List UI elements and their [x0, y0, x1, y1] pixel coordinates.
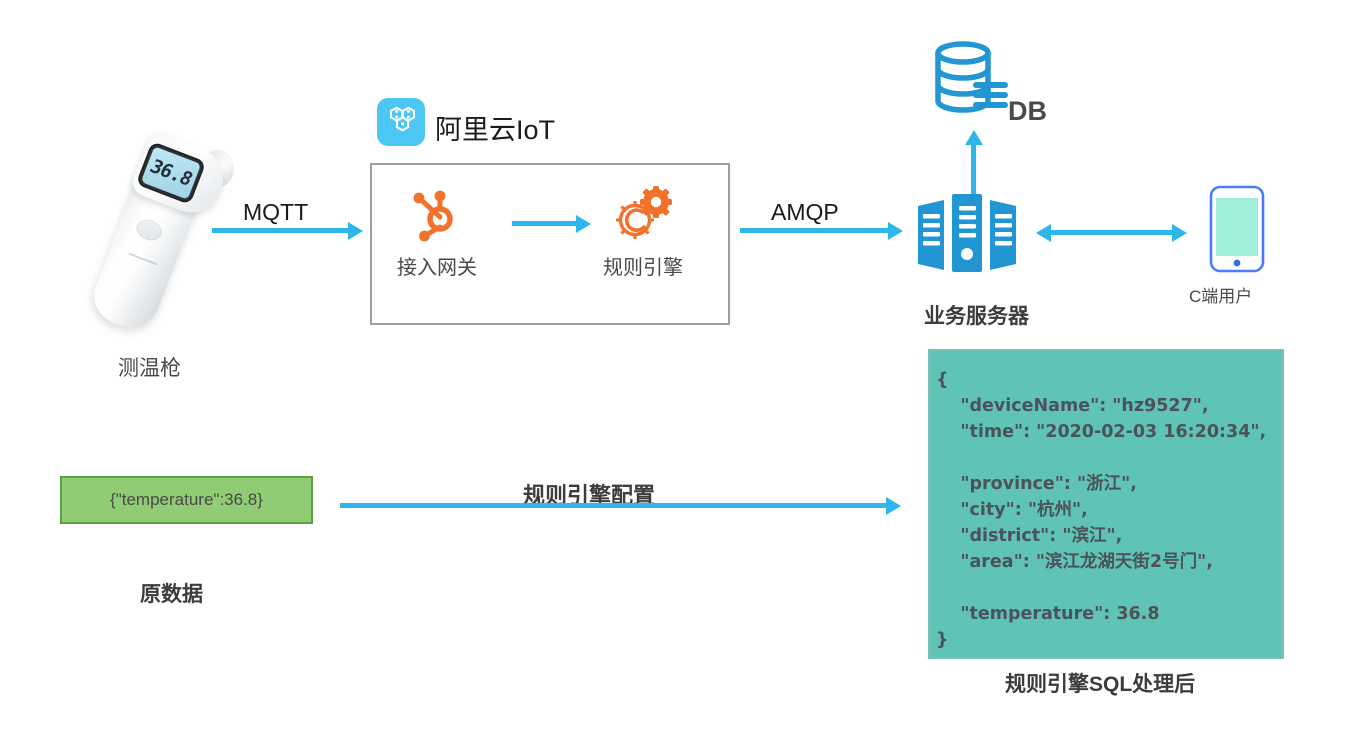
server-rack-icon [916, 192, 1028, 279]
device-caption: 测温枪 [118, 352, 181, 382]
aliyun-iot-platform-box: 接入网关 [370, 163, 730, 325]
database-cylinder-icon [930, 38, 1014, 127]
server-client-arrow-head-left [1036, 224, 1051, 242]
rules-engine-label: 规则引擎 [578, 251, 708, 280]
raw-data-caption: 原数据 [140, 578, 203, 608]
amqp-arrow-head [888, 222, 903, 240]
rules-engine-gears-icon [608, 183, 678, 254]
server-client-arrow-line [1050, 230, 1173, 235]
database-label: DB [1008, 96, 1047, 127]
amqp-arrow-label: AMQP [771, 199, 839, 226]
business-server-caption: 业务服务器 [924, 300, 1029, 330]
client-caption: C端用户 [1189, 282, 1252, 307]
internal-arrow-line [512, 221, 578, 226]
raw-data-box: {"temperature":36.8} [60, 476, 313, 524]
aliyun-iot-hexagon-icon [377, 98, 425, 146]
rule-config-arrow-head [886, 497, 901, 515]
server-client-arrow-head-right [1172, 224, 1187, 242]
mqtt-arrow-head [348, 222, 363, 240]
raw-data-payload: {"temperature":36.8} [110, 490, 263, 510]
processed-json-text: { "deviceName": "hz9527", "time": "2020-… [936, 367, 1282, 653]
access-gateway-icon [406, 187, 468, 254]
amqp-arrow-line [740, 228, 890, 233]
access-gateway-label: 接入网关 [372, 251, 502, 280]
aliyun-iot-title: 阿里云IoT [435, 108, 555, 147]
mqtt-arrow-line [212, 228, 350, 233]
processed-data-caption: 规则引擎SQL处理后 [1005, 668, 1195, 698]
mqtt-arrow-label: MQTT [243, 199, 308, 226]
infrared-thermometer-gun-icon: 36.8 [78, 140, 278, 340]
diagram-canvas: 36.8 测温枪 MQTT 阿里云IoT [0, 0, 1358, 750]
processed-json-box: { "deviceName": "hz9527", "time": "2020-… [928, 349, 1284, 659]
internal-arrow-head [576, 215, 591, 233]
thermometer-reading: 36.8 [146, 156, 195, 191]
mobile-phone-icon [1209, 185, 1265, 278]
rule-config-arrow-line [340, 503, 888, 508]
server-to-db-arrow-head [965, 130, 983, 145]
